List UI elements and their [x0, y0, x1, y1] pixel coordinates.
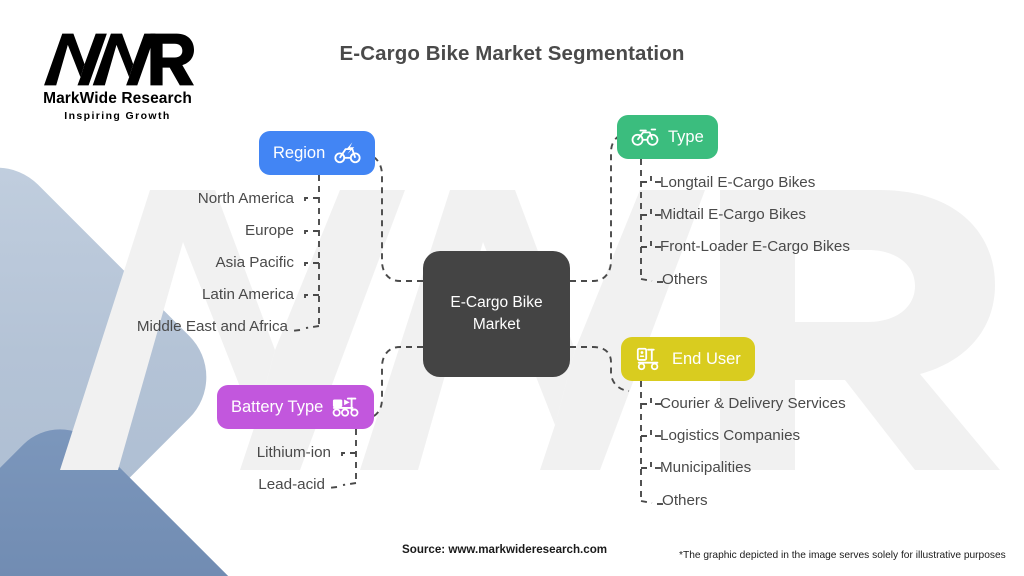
- decorative-square-dark: [0, 408, 272, 576]
- branch-label-battery: Battery Type: [231, 398, 323, 417]
- bicycle-icon: [631, 127, 659, 147]
- leaf-region-4: Middle East and Africa: [137, 318, 288, 335]
- center-node: E-Cargo Bike Market: [423, 251, 570, 377]
- cargo-trike-icon: [332, 396, 360, 418]
- page-title: E-Cargo Bike Market Segmentation: [0, 42, 1024, 66]
- leaf-battery-0: Lithium-ion: [257, 444, 331, 461]
- branch-label-type: Type: [668, 128, 704, 147]
- leaf-type-2: Front-Loader E-Cargo Bikes: [660, 238, 850, 255]
- leaf-region-1: Europe: [245, 222, 294, 239]
- leaf-region-0: North America: [198, 190, 294, 207]
- branch-badge-end-user[interactable]: End User: [621, 337, 755, 381]
- leaf-battery-1: Lead-acid: [258, 476, 325, 493]
- decorative-square-light: [0, 144, 230, 576]
- leaf-region-3: Latin America: [202, 286, 294, 303]
- branch-badge-region[interactable]: Region: [259, 131, 375, 175]
- branch-label-region: Region: [273, 144, 325, 163]
- leaf-region-2: Asia Pacific: [216, 254, 295, 271]
- source-note: Source: www.markwideresearch.com: [402, 543, 607, 556]
- leaf-type-3: Others: [662, 271, 708, 288]
- leaf-type-1: Midtail E-Cargo Bikes: [660, 206, 806, 223]
- delivery-scooter-icon: [635, 347, 663, 371]
- brand-name: MarkWide Research: [30, 90, 205, 108]
- branch-label-end-user: End User: [672, 350, 741, 369]
- leaf-type-0: Longtail E-Cargo Bikes: [660, 174, 815, 191]
- center-node-label: E-Cargo Bike Market: [435, 292, 558, 337]
- disclaimer-note: *The graphic depicted in the image serve…: [679, 550, 1006, 561]
- leaf-end-user-2: Municipalities: [660, 459, 751, 476]
- branch-badge-battery[interactable]: Battery Type: [217, 385, 374, 429]
- branch-badge-type[interactable]: Type: [617, 115, 718, 159]
- brand-tagline: Inspiring Growth: [30, 110, 205, 122]
- leaf-end-user-1: Logistics Companies: [660, 427, 800, 444]
- infographic-canvas: MarkWide Research Inspiring Growth E-Car…: [0, 0, 1024, 576]
- leaf-end-user-0: Courier & Delivery Services: [660, 395, 846, 412]
- e-bike-icon: [334, 142, 361, 164]
- leaf-end-user-3: Others: [662, 492, 708, 509]
